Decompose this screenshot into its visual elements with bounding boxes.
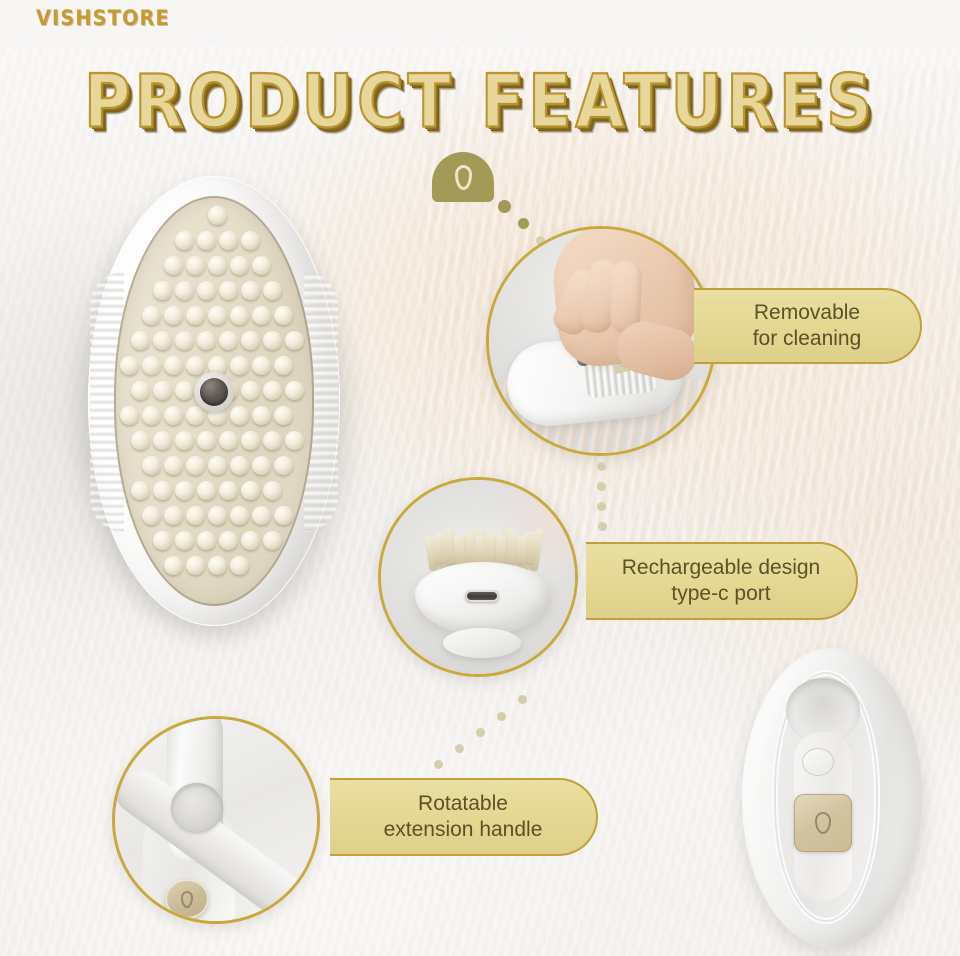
bristle-pin: [475, 536, 484, 564]
brush-head-foot: [443, 628, 521, 658]
feature-photo-rotatable-handle: [112, 716, 320, 924]
silicone-nub: [142, 456, 161, 475]
product-back-view-image: [742, 648, 922, 948]
water-drop-glyph: [815, 812, 831, 834]
connector-dot: [476, 728, 485, 737]
silicone-nub: [164, 256, 183, 275]
feature-label-text: Removable for cleaning: [743, 300, 872, 351]
silicone-nub: [164, 556, 183, 575]
silicone-nub: [164, 506, 183, 525]
silicone-nub: [208, 556, 227, 575]
silicone-nub: [131, 481, 150, 500]
silicone-nub: [208, 506, 227, 525]
silicone-nub: [208, 256, 227, 275]
silicone-nub: [263, 481, 282, 500]
handle-rotation-joint: [171, 783, 223, 833]
silicone-nub: [120, 406, 139, 425]
feature-label-line2: type-c port: [671, 582, 770, 605]
silicone-nub: [241, 481, 260, 500]
connector-dot: [434, 760, 443, 769]
silicone-nub: [274, 456, 293, 475]
silicone-nub: [197, 231, 216, 250]
silicone-nub: [186, 406, 205, 425]
silicone-nub: [241, 231, 260, 250]
silicone-nub: [175, 481, 194, 500]
silicone-nub: [252, 256, 271, 275]
silicone-nub: [274, 306, 293, 325]
connector-dot: [597, 462, 606, 471]
silicone-nub: [208, 206, 227, 225]
silicone-nub: [197, 481, 216, 500]
silicone-nub: [164, 356, 183, 375]
silicone-nub: [230, 306, 249, 325]
connector-dot: [497, 712, 506, 721]
scene-handle-joint: [115, 719, 317, 921]
silicone-nub: [263, 431, 282, 450]
silicone-nub: [131, 331, 150, 350]
silicone-nub: [241, 331, 260, 350]
feature-label-line1: Removable: [754, 301, 860, 324]
silicone-nub: [197, 331, 216, 350]
connector-dot: [518, 695, 527, 704]
silicone-nub: [230, 356, 249, 375]
feature-label-line2: extension handle: [384, 818, 543, 841]
feature-label-text: Rechargeable design type-c port: [612, 555, 830, 606]
silicone-nub: [230, 456, 249, 475]
feature-photo-removable: [486, 226, 716, 456]
silicone-nub: [219, 281, 238, 300]
silicone-nub: [186, 556, 205, 575]
silicone-nub: [230, 406, 249, 425]
silicone-nub: [186, 456, 205, 475]
silicone-nub: [153, 281, 172, 300]
water-drop-glyph: [181, 891, 193, 908]
silicone-nub: [285, 431, 304, 450]
steam-trail-dot: [518, 218, 529, 229]
silicone-nub: [230, 506, 249, 525]
silicone-nub: [252, 456, 271, 475]
connector-dot: [455, 744, 464, 753]
silicone-nub: [131, 431, 150, 450]
hero-product-image: [88, 176, 340, 626]
brand-logo: VISHSTORE: [36, 6, 170, 30]
silicone-nub: [153, 431, 172, 450]
silicone-nub: [241, 381, 260, 400]
silicone-nub: [274, 356, 293, 375]
silicone-nub: [153, 381, 172, 400]
silicone-nub: [197, 531, 216, 550]
silicone-nub: [208, 306, 227, 325]
bristle-pin: [495, 536, 505, 564]
feature-label-line1: Rotatable: [418, 792, 508, 815]
silicone-nub: [142, 506, 161, 525]
silicone-nub: [186, 356, 205, 375]
silicone-nub: [197, 431, 216, 450]
silicone-nub: [219, 331, 238, 350]
silicone-nub: [153, 331, 172, 350]
steam-trail-dot: [498, 200, 511, 213]
silicone-nub: [263, 381, 282, 400]
silicone-nub: [230, 556, 249, 575]
silicone-nub: [164, 456, 183, 475]
silicone-nub: [142, 356, 161, 375]
silicone-nub: [274, 406, 293, 425]
silicone-nub: [285, 381, 304, 400]
silicone-nub: [263, 331, 282, 350]
silicone-nub: [186, 306, 205, 325]
silicone-nub: [142, 306, 161, 325]
silicone-nub: [219, 531, 238, 550]
silicone-nub: [153, 481, 172, 500]
feature-label-line2: for cleaning: [753, 327, 862, 350]
scene-hand-removing-head: [489, 229, 713, 453]
steam-drop-button-icon: [794, 794, 852, 852]
silicone-nub: [120, 356, 139, 375]
silicone-nub: [230, 256, 249, 275]
feature-label-rechargeable: Rechargeable design type-c port: [586, 542, 858, 620]
feature-label-rotatable: Rotatable extension handle: [330, 778, 598, 856]
infographic-page: VISHSTORE PRODUCT FEATURES: [0, 0, 960, 956]
silicone-nub: [285, 331, 304, 350]
water-drop-glyph: [455, 165, 472, 190]
feature-label-text: Rotatable extension handle: [374, 791, 553, 842]
silicone-nub: [153, 531, 172, 550]
silicone-nub: [131, 381, 150, 400]
silicone-nub: [142, 406, 161, 425]
connector-dot: [597, 502, 606, 511]
scene-brush-head-port: [381, 480, 575, 674]
silicone-nub: [175, 331, 194, 350]
silicone-nub: [241, 531, 260, 550]
connector-dot: [598, 522, 607, 531]
silicone-nub: [208, 456, 227, 475]
silicone-nub: [175, 431, 194, 450]
silicone-nub: [263, 531, 282, 550]
silicone-nub: [186, 256, 205, 275]
silicone-nub: [175, 231, 194, 250]
silicone-nub: [164, 306, 183, 325]
silicone-nub: [175, 381, 194, 400]
silicone-nub: [219, 431, 238, 450]
silicone-nub: [252, 406, 271, 425]
silicone-nub: [186, 506, 205, 525]
bristle-pin: [464, 531, 475, 564]
silicone-nub: [252, 506, 271, 525]
silicone-nub: [219, 481, 238, 500]
page-title: PRODUCT FEATURES: [0, 58, 960, 144]
silicone-nub: [252, 306, 271, 325]
hero-steam-nozzle: [194, 372, 234, 412]
silicone-nub: [241, 431, 260, 450]
silicone-nub: [175, 531, 194, 550]
bristle-pin: [485, 531, 495, 564]
silicone-nub: [274, 506, 293, 525]
silicone-nub: [175, 281, 194, 300]
feature-label-line1: Rechargeable design: [622, 556, 820, 579]
steam-drop-button-icon: [165, 879, 209, 919]
device-small-button: [802, 748, 834, 776]
silicone-nub: [263, 281, 282, 300]
silicone-nub: [219, 231, 238, 250]
feature-label-removable: Removable for cleaning: [694, 288, 922, 364]
type-c-port: [465, 590, 499, 602]
silicone-nub: [164, 406, 183, 425]
connector-dot: [597, 482, 606, 491]
silicone-nub: [197, 281, 216, 300]
silicone-nub: [252, 356, 271, 375]
silicone-nub: [241, 281, 260, 300]
feature-photo-rechargeable: [378, 477, 578, 677]
